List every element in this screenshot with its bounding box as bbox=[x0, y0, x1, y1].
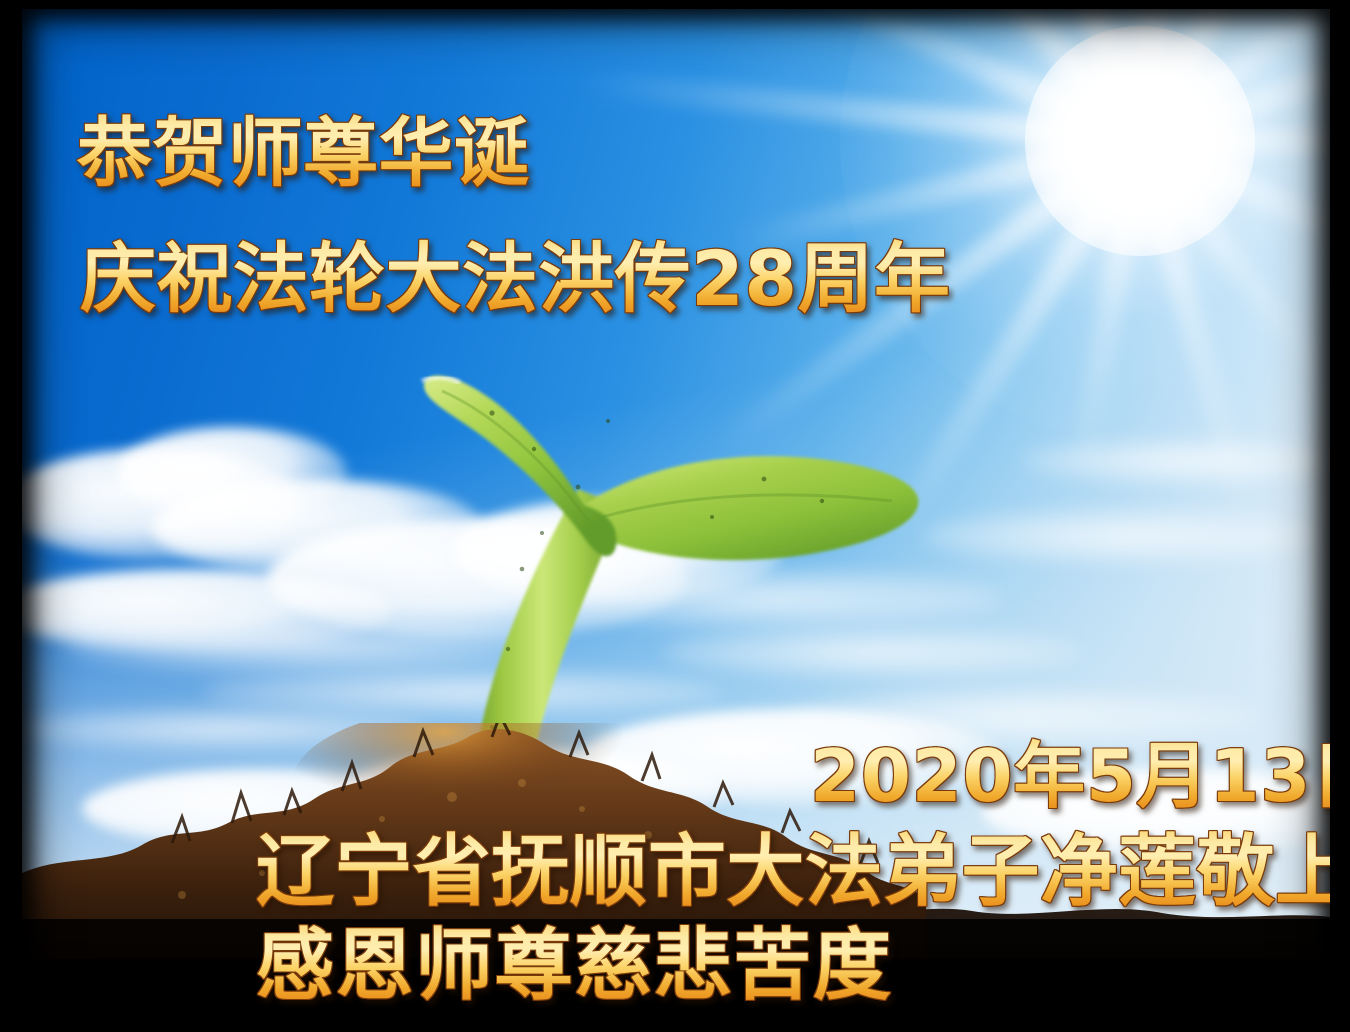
headline-birthday-greeting: 恭贺师尊华诞 bbox=[77, 92, 529, 201]
headline-anniversary: 庆祝法轮大法洪传28周年 bbox=[80, 217, 950, 327]
date-label: 2020年5月13日 bbox=[810, 717, 1330, 822]
photo-plate: 恭贺师尊华诞 庆祝法轮大法洪传28周年 2020年5月13日 辽宁省抚顺市大法弟… bbox=[22, 9, 1330, 1023]
gratitude-line: 感恩师尊慈悲苦度 bbox=[256, 903, 892, 1015]
greeting-card: 恭贺师尊华诞 庆祝法轮大法洪传28周年 2020年5月13日 辽宁省抚顺市大法弟… bbox=[0, 0, 1350, 1032]
